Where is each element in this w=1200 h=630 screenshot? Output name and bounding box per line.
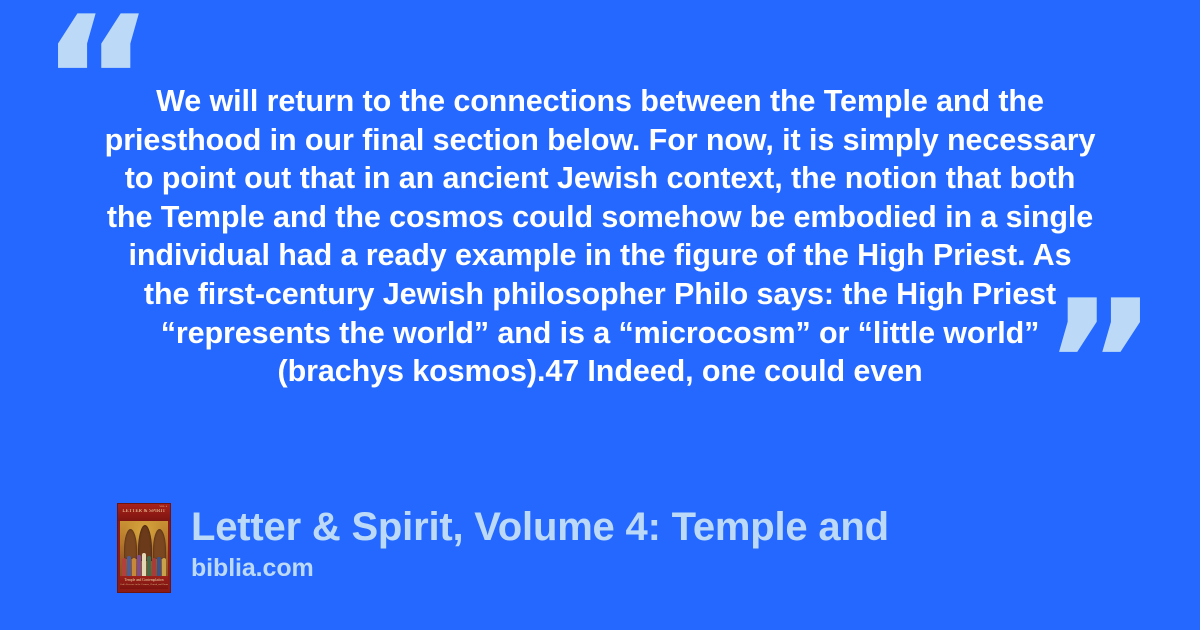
cover-subtitle: Temple and Contemplation	[120, 578, 168, 582]
cover-title: LETTER & SPIRIT	[121, 509, 167, 515]
cover-bottom-band: Temple and Contemplation God's Presence …	[120, 576, 168, 589]
book-cover-thumbnail[interactable]: VOL. 4 LETTER & SPIRIT Temple and Contem…	[117, 503, 171, 593]
cover-figure	[157, 557, 161, 576]
cover-figure	[147, 556, 151, 576]
cover-figure	[142, 553, 146, 576]
cover-figure	[132, 558, 136, 576]
source-text-block: Letter & Spirit, Volume 4: Temple and bi…	[191, 503, 889, 583]
cover-top-band: VOL. 4 LETTER & SPIRIT	[118, 504, 170, 521]
cover-arch-icon	[153, 529, 166, 559]
source-footer[interactable]: VOL. 4 LETTER & SPIRIT Temple and Contem…	[117, 503, 889, 593]
cover-figure	[122, 558, 126, 576]
closing-quote-icon: ”	[1043, 278, 1158, 453]
quote-card: “ We will return to the connections betw…	[0, 0, 1200, 630]
cover-kicker: VOL. 4	[159, 505, 167, 508]
cover-figure	[127, 556, 131, 576]
cover-figure	[162, 558, 166, 576]
cover-figure	[137, 555, 141, 576]
cover-arch-icon	[124, 529, 137, 559]
quote-block: We will return to the connections betwee…	[100, 82, 1100, 391]
cover-artwork	[120, 521, 168, 578]
source-site[interactable]: biblia.com	[191, 554, 889, 583]
cover-subtitle-secondary: God's Presence in the Cosmos, Church, an…	[120, 583, 168, 586]
cover-figure	[152, 558, 156, 576]
quote-text: We will return to the connections betwee…	[100, 82, 1100, 391]
source-title[interactable]: Letter & Spirit, Volume 4: Temple and	[191, 504, 889, 551]
